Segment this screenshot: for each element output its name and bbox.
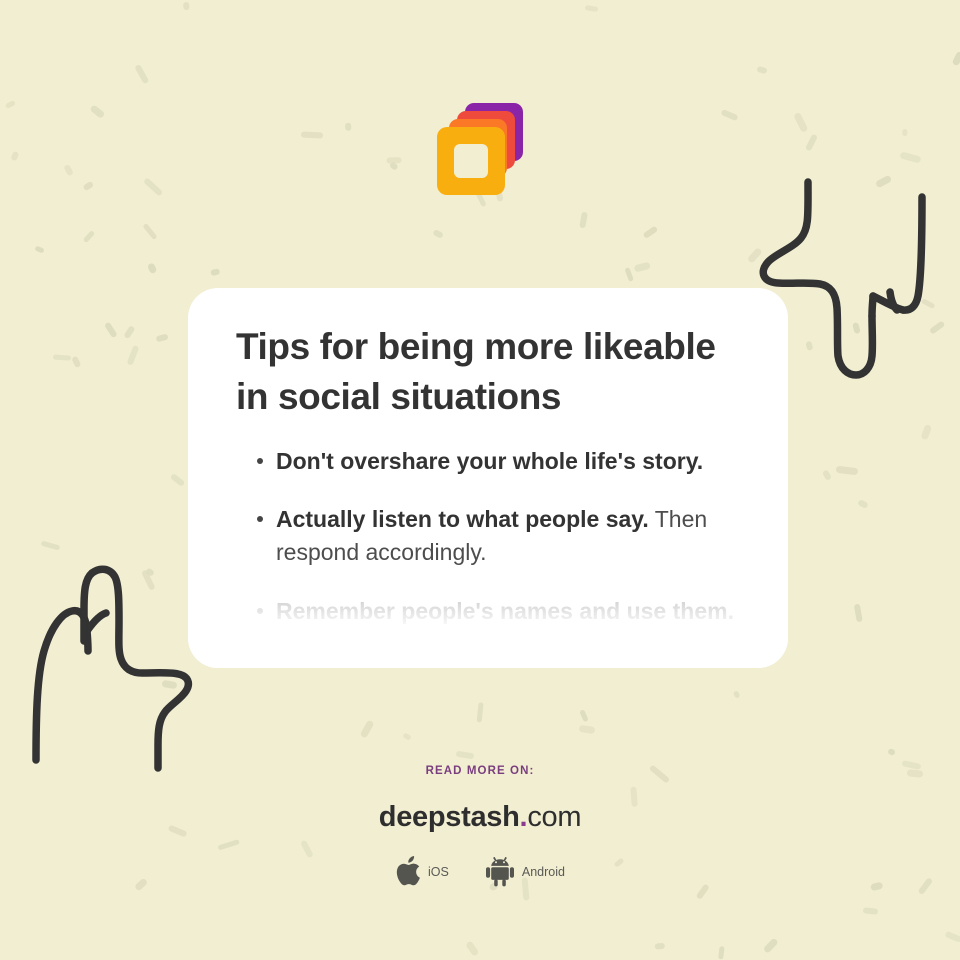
speck: [887, 748, 896, 756]
speck: [718, 946, 725, 959]
store-badge-android[interactable]: Android: [485, 856, 565, 887]
speck: [360, 720, 375, 739]
list-item: Don't overshare your whole life's story.: [236, 445, 742, 478]
speck: [432, 228, 444, 239]
speck: [853, 603, 862, 622]
speck: [465, 940, 479, 956]
speck: [733, 690, 741, 699]
speck: [920, 298, 935, 309]
speck: [142, 223, 157, 240]
speck: [147, 263, 158, 275]
speck: [182, 2, 189, 11]
speck: [584, 5, 598, 12]
speck: [456, 751, 475, 760]
speck: [402, 733, 411, 741]
speck: [863, 907, 879, 915]
speck: [71, 356, 81, 368]
speck: [633, 262, 650, 272]
speck: [579, 725, 596, 734]
speck: [836, 465, 859, 474]
speck: [161, 680, 176, 689]
tips-list: Don't overshare your whole life's story.…: [236, 445, 742, 628]
speck: [624, 267, 634, 282]
logo-layer-cutout: [454, 144, 488, 178]
speck: [822, 469, 832, 480]
idea-card: Tips for being more likeable in social s…: [188, 288, 788, 668]
speck: [41, 541, 60, 551]
speck: [210, 268, 220, 276]
pointing-hand-left-illustration: [18, 555, 203, 780]
store-label-android: Android: [522, 865, 565, 879]
speck: [142, 569, 156, 590]
speck: [952, 51, 960, 66]
apple-icon: [395, 856, 421, 887]
speck: [477, 702, 484, 723]
speck: [852, 322, 861, 334]
speck: [944, 930, 960, 943]
speck: [135, 64, 150, 84]
list-item-bold: Remember people's names and use them.: [276, 598, 734, 624]
speck: [83, 230, 96, 244]
speck: [857, 499, 868, 509]
speck: [53, 354, 71, 360]
speck: [123, 325, 135, 339]
speck: [643, 225, 659, 239]
store-label-ios: iOS: [428, 865, 449, 879]
deepstash-wordmark[interactable]: deepstash.com: [0, 801, 960, 834]
speck: [655, 943, 665, 950]
speck: [920, 424, 931, 440]
speck: [929, 321, 945, 335]
speck: [105, 322, 118, 338]
speck: [34, 245, 44, 253]
speck: [156, 334, 169, 343]
speck: [579, 709, 588, 722]
card-content: Tips for being more likeable in social s…: [188, 288, 788, 627]
read-more-label: READ MORE ON:: [0, 765, 960, 777]
deepstash-logo: [437, 103, 523, 195]
list-item-bold: Don't overshare your whole life's story.: [276, 448, 703, 474]
speck: [170, 473, 186, 487]
android-icon: [485, 856, 515, 887]
speck: [580, 212, 588, 228]
speck: [145, 567, 155, 576]
speck: [763, 937, 779, 953]
wordmark-tld: com: [527, 801, 581, 833]
speck: [747, 247, 763, 263]
speck: [756, 65, 767, 74]
speck: [127, 344, 140, 365]
speck: [805, 341, 813, 351]
card-title: Tips for being more likeable in social s…: [236, 322, 742, 423]
store-badge-ios[interactable]: iOS: [395, 856, 449, 887]
list-item-bold: Actually listen to what people say.: [276, 506, 649, 532]
list-item: Remember people's names and use them.: [236, 595, 742, 628]
logo-container: [0, 103, 960, 195]
list-item: Actually listen to what people say. Then…: [236, 503, 742, 568]
wordmark-brand: deepstash: [379, 801, 520, 833]
store-badges: iOS Android: [0, 856, 960, 887]
footer: READ MORE ON: deepstash.com iOS: [0, 765, 960, 887]
